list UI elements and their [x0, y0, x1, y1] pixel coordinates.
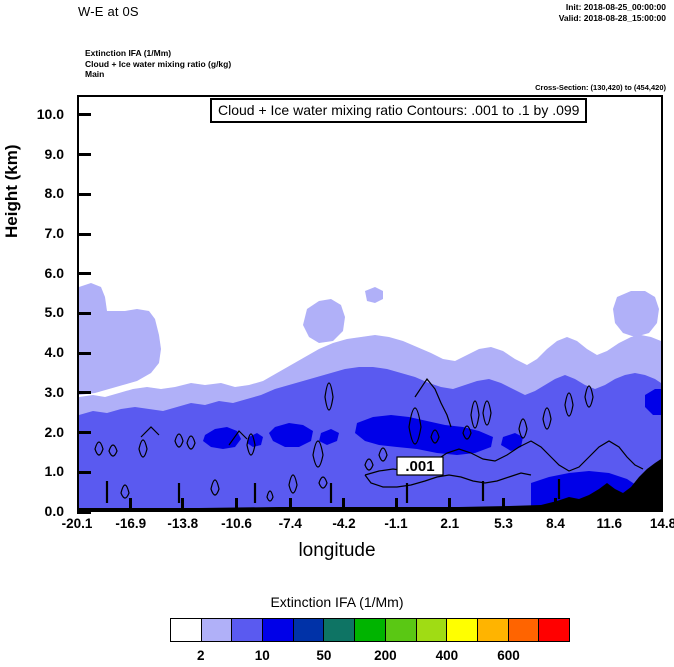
field-description-block: Extinction IFA (1/Mm) Cloud + Ice water …	[85, 48, 231, 80]
contour-fill-canvas: .001	[79, 97, 661, 510]
y-tick-mark	[77, 153, 91, 156]
x-tick-label: -7.4	[260, 516, 320, 531]
init-time-label: Init: 2018-08-25_00:00:00	[566, 2, 666, 12]
x-tick-label: -4.2	[314, 516, 374, 531]
y-tick-mark	[77, 511, 91, 514]
colorbar-cell	[294, 619, 325, 641]
x-tick-label: 5.3	[473, 516, 533, 531]
y-tick-mark	[77, 431, 91, 434]
y-tick-mark	[77, 193, 91, 196]
x-tick-mark	[342, 498, 345, 512]
x-tick-label: 8.4	[526, 516, 586, 531]
y-tick-label: 6.0	[12, 265, 64, 281]
x-tick-label: 14.8	[633, 516, 674, 531]
svg-text:.001: .001	[405, 458, 434, 475]
x-tick-label: 2.1	[420, 516, 480, 531]
colorbar-tick-label: 200	[355, 648, 415, 663]
field-line-domain: Main	[85, 69, 231, 80]
colorbar-cell	[324, 619, 355, 641]
x-tick-label: -20.1	[47, 516, 107, 531]
x-tick-mark	[554, 498, 557, 512]
y-tick-mark	[77, 471, 91, 474]
colorbar-cell	[478, 619, 509, 641]
cross-section-plot: .001	[77, 95, 663, 512]
x-tick-label: -16.9	[101, 516, 161, 531]
cross-section-label: Cross-Section: (130,420) to (454,420)	[535, 83, 666, 92]
colorbar-tick-label: 10	[232, 648, 292, 663]
x-tick-label: 11.6	[579, 516, 639, 531]
colorbar-cell	[202, 619, 233, 641]
colorbar-tick-label: 400	[417, 648, 477, 663]
y-tick-label: 9.0	[12, 146, 64, 162]
y-tick-label: 4.0	[12, 344, 64, 360]
colorbar-tick-label: 50	[294, 648, 354, 663]
colorbar-cell	[509, 619, 540, 641]
colorbar-cell	[232, 619, 263, 641]
colorbar	[170, 618, 570, 642]
y-tick-mark	[77, 312, 91, 315]
colorbar-cell	[447, 619, 478, 641]
valid-time-label: Valid: 2018-08-28_15:00:00	[559, 13, 666, 23]
colorbar-cell	[263, 619, 294, 641]
field-line-extinction: Extinction IFA (1/Mm)	[85, 48, 231, 59]
x-tick-mark	[129, 498, 132, 512]
y-tick-label: 1.0	[12, 463, 64, 479]
colorbar-title: Extinction IFA (1/Mm)	[0, 594, 674, 610]
x-tick-mark	[395, 498, 398, 512]
field-line-mixing-ratio: Cloud + Ice water mixing ratio (g/kg)	[85, 59, 231, 70]
colorbar-cell	[417, 619, 448, 641]
colorbar-cell	[355, 619, 386, 641]
colorbar-tick-label: 600	[478, 648, 538, 663]
contour-value-label: .001	[397, 457, 443, 475]
x-tick-mark	[448, 498, 451, 512]
y-tick-mark	[77, 391, 91, 394]
colorbar-tick-label: 2	[171, 648, 231, 663]
y-tick-mark	[77, 272, 91, 275]
x-axis-title: longitude	[0, 540, 674, 562]
x-tick-label: -1.1	[366, 516, 426, 531]
x-tick-mark	[608, 498, 611, 512]
x-tick-mark	[235, 498, 238, 512]
y-tick-label: 2.0	[12, 424, 64, 440]
x-tick-mark	[289, 498, 292, 512]
x-tick-label: -10.6	[207, 516, 267, 531]
colorbar-cell	[539, 619, 569, 641]
colorbar-cell	[171, 619, 202, 641]
y-tick-label: 8.0	[12, 185, 64, 201]
y-tick-mark	[77, 233, 91, 236]
y-tick-label: 7.0	[12, 225, 64, 241]
contour-title-box: Cloud + Ice water mixing ratio Contours:…	[210, 98, 587, 123]
y-tick-mark	[77, 113, 91, 116]
y-tick-label: 5.0	[12, 304, 64, 320]
page-title: W-E at 0S	[78, 4, 139, 19]
x-tick-mark	[502, 498, 505, 512]
x-tick-label: -13.8	[153, 516, 213, 531]
y-tick-label: 3.0	[12, 384, 64, 400]
y-tick-label: 10.0	[12, 106, 64, 122]
y-tick-mark	[77, 352, 91, 355]
x-tick-mark	[181, 498, 184, 512]
colorbar-cell	[386, 619, 417, 641]
